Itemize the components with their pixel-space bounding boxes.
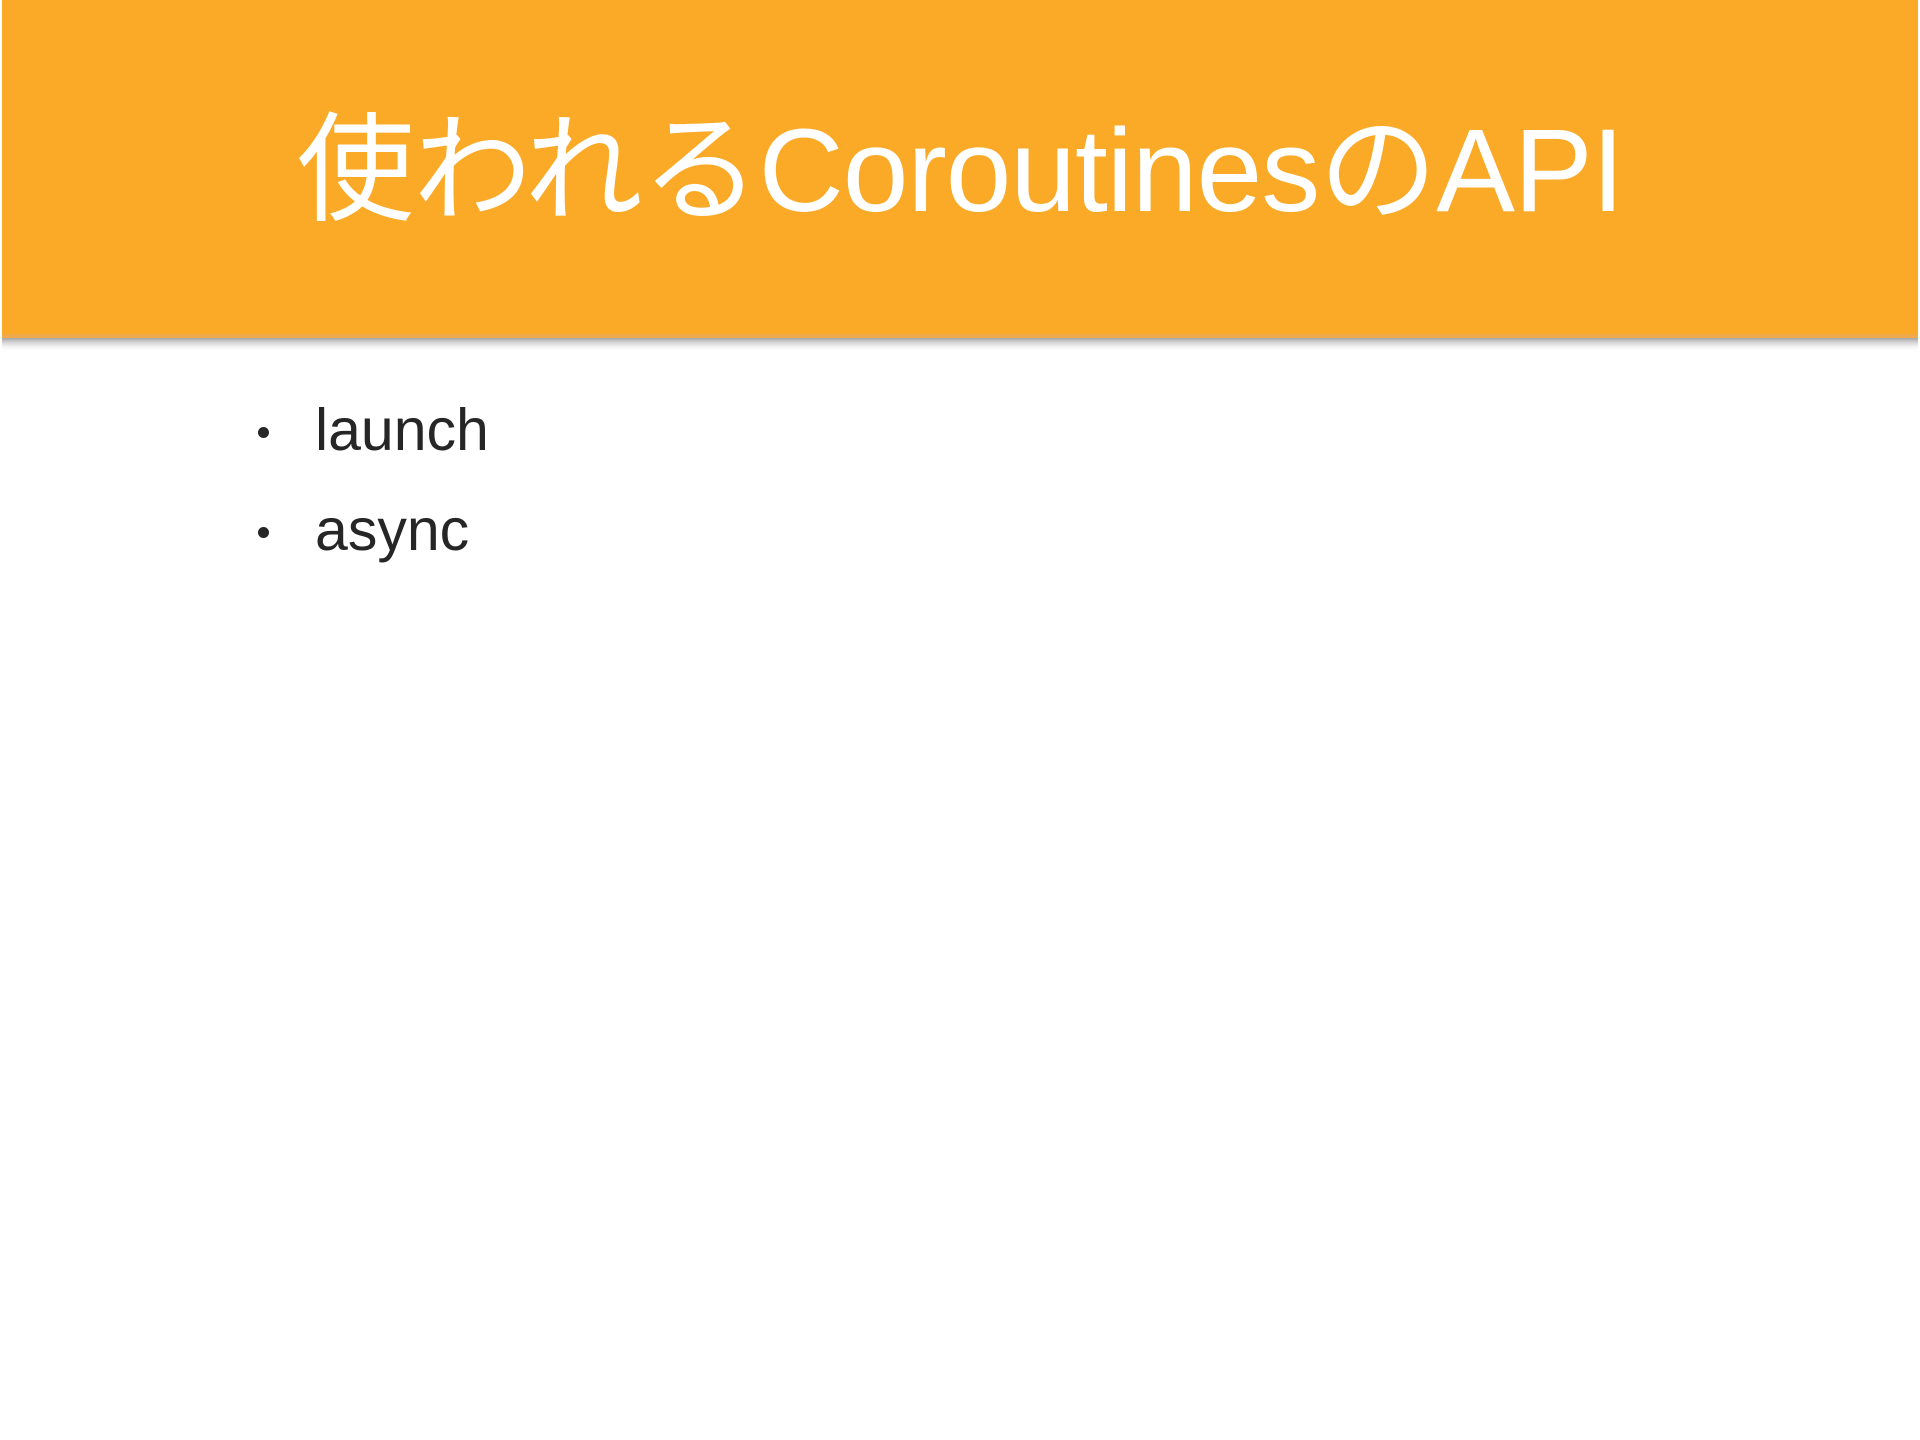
banner-drop-shadow xyxy=(2,338,1918,351)
bullet-dot-icon xyxy=(258,427,269,438)
api-bullet-list: launch async xyxy=(0,380,1920,580)
slide-title-banner: 使われるCoroutinesのAPI xyxy=(2,0,1918,334)
slide-title: 使われるCoroutinesのAPI xyxy=(297,112,1624,230)
list-item-label: launch xyxy=(315,401,489,460)
list-item-label: async xyxy=(315,501,469,560)
slide: 使われるCoroutinesのAPI launch async xyxy=(0,0,1920,1440)
bullet-dot-icon xyxy=(258,527,269,538)
list-item: async xyxy=(0,480,1920,580)
slide-body: launch async xyxy=(0,380,1920,1440)
list-item: launch xyxy=(0,380,1920,480)
